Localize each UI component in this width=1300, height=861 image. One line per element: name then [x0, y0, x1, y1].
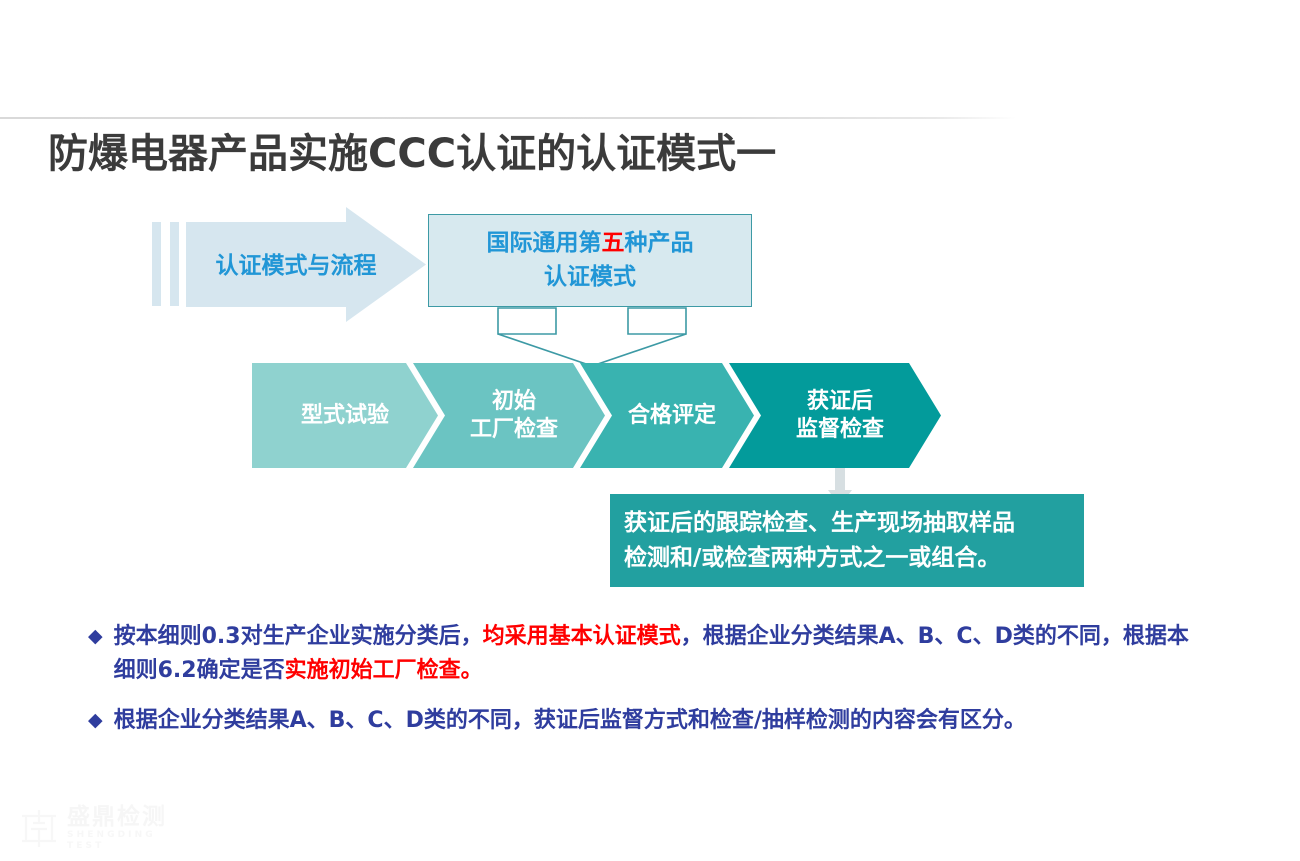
bullet-1-segment-1: 按本细则0.3对生产企业实施分类后， — [114, 624, 483, 649]
process-step-label-3: 合格评定 — [628, 402, 716, 430]
shengding-mark-icon — [18, 807, 60, 849]
mode-line2: 认证模式 — [544, 264, 636, 290]
process-step-4: 获证后 监督检查 — [729, 363, 941, 468]
bullet-2-segment-1: 根据企业分类结果A、B、C、D类的不同，获证后监督方式和检查/抽样检测的内容会有… — [114, 708, 1026, 733]
page-title: 防爆电器产品实施CCC认证的认证模式一 — [48, 131, 776, 177]
process-chevron-row: 型式试验初始 工厂检查合格评定获证后 监督检查 — [252, 363, 982, 468]
mode-line1-before: 国际通用第 — [487, 230, 602, 256]
header-divider — [0, 117, 1016, 119]
process-step-label-4: 获证后 监督检查 — [796, 388, 884, 443]
bullet-marker-icon: ◆ — [88, 704, 103, 735]
process-step-3: 合格评定 — [580, 363, 754, 468]
process-step-label-1: 型式试验 — [301, 402, 389, 430]
certification-mode-box: 国际通用第五种产品 认证模式 — [428, 214, 752, 307]
bullet-text-1: 按本细则0.3对生产企业实施分类后，均采用基本认证模式，根据企业分类结果A、B、… — [114, 620, 1208, 688]
bullet-1-segment-4: 实施初始工厂检查。 — [285, 658, 483, 683]
mode-line1-after: 种产品 — [625, 230, 694, 256]
bullet-list: ◆按本细则0.3对生产企业实施分类后，均采用基本认证模式，根据企业分类结果A、B… — [88, 620, 1208, 754]
certification-mode-text: 国际通用第五种产品 认证模式 — [477, 227, 704, 294]
info-line1: 获证后的跟踪检查、生产现场抽取样品 — [624, 510, 1015, 536]
bullet-1-segment-2: 均采用基本认证模式 — [483, 624, 681, 649]
watermark-english: SHENGDING TEST — [67, 830, 198, 852]
watermark-logo: 盛鼎检测 SHENGDING TEST — [18, 802, 198, 854]
process-step-1: 型式试验 — [252, 363, 438, 468]
down-arrow-connector-icon — [496, 306, 688, 368]
process-step-label-2: 初始 工厂检查 — [470, 388, 558, 443]
post-certification-info-text: 获证后的跟踪检查、生产现场抽取样品 检测和/或检查两种方式之一或组合。 — [610, 506, 1029, 575]
bullet-item-1: ◆按本细则0.3对生产企业实施分类后，均采用基本认证模式，根据企业分类结果A、B… — [88, 620, 1208, 688]
watermark-text: 盛鼎检测 SHENGDING TEST — [67, 805, 198, 852]
accent-bar-left-outer — [152, 222, 161, 306]
post-certification-info-box: 获证后的跟踪检查、生产现场抽取样品 检测和/或检查两种方式之一或组合。 — [610, 494, 1084, 587]
mode-line1-highlight: 五 — [602, 230, 625, 256]
watermark-chinese: 盛鼎检测 — [67, 805, 198, 829]
process-step-2: 初始 工厂检查 — [413, 363, 605, 468]
process-entry-arrow-label: 认证模式与流程 — [196, 246, 396, 280]
bullet-text-2: 根据企业分类结果A、B、C、D类的不同，获证后监督方式和检查/抽样检测的内容会有… — [114, 704, 1208, 738]
accent-bar-left-inner — [170, 222, 179, 306]
bullet-marker-icon: ◆ — [88, 620, 103, 651]
info-line2: 检测和/或检查两种方式之一或组合。 — [624, 545, 1000, 571]
bullet-item-2: ◆根据企业分类结果A、B、C、D类的不同，获证后监督方式和检查/抽样检测的内容会… — [88, 704, 1208, 738]
